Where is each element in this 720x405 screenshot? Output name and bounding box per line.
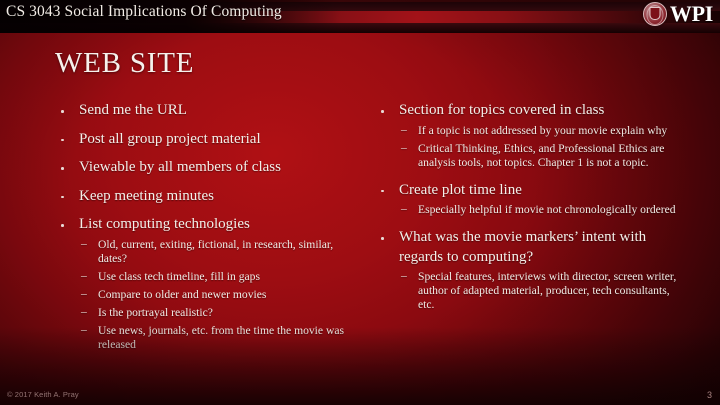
slide-title: WEB SITE: [55, 47, 194, 80]
sub-bullet-item: Critical Thinking, Ethics, and Professio…: [399, 142, 678, 170]
bullet-column-left: Send me the URLPost all group project ma…: [58, 101, 363, 357]
sub-bullet-list: Especially helpful if movie not chronolo…: [399, 203, 678, 217]
sub-bullet-list: If a topic is not addressed by your movi…: [399, 124, 678, 170]
sub-bullet-list: Special features, interviews with direct…: [399, 270, 678, 312]
bullet-item: Create plot time lineEspecially helpful …: [378, 181, 678, 218]
sub-bullet-item: Is the portrayal realistic?: [79, 306, 363, 320]
copyright-notice: © 2017 Keith A. Pray: [7, 390, 79, 399]
sub-bullet-list: Old, current, exiting, fictional, in res…: [79, 238, 363, 352]
slide-body: Send me the URLPost all group project ma…: [0, 101, 720, 371]
bullet-text: Viewable by all members of class: [79, 158, 363, 178]
wpi-wordmark: WPI: [670, 3, 713, 25]
sub-bullet-item: Use news, journals, etc. from the time t…: [79, 324, 363, 352]
bullet-list-right: Section for topics covered in classIf a …: [378, 101, 678, 312]
course-title: CS 3043 Social Implications Of Computing: [6, 3, 282, 21]
bullet-item: List computing technologiesOld, current,…: [58, 215, 363, 352]
sub-bullet-item: Use class tech timeline, fill in gaps: [79, 270, 363, 284]
presentation-slide: CS 3043 Social Implications Of Computing…: [0, 0, 720, 405]
slide-number: 3: [707, 390, 712, 400]
wpi-logo: WPI: [643, 2, 713, 26]
sub-bullet-item: Compare to older and newer movies: [79, 288, 363, 302]
bullet-text: Create plot time line: [399, 181, 678, 201]
slide-header-band: CS 3043 Social Implications Of Computing…: [0, 0, 720, 33]
bullet-text: Keep meeting minutes: [79, 187, 363, 207]
bullet-item: Keep meeting minutes: [58, 187, 363, 207]
bullet-text: List computing technologies: [79, 215, 363, 235]
bullet-list-left: Send me the URLPost all group project ma…: [58, 101, 363, 352]
bullet-text: What was the movie markers’ intent with …: [399, 228, 678, 267]
wpi-seal-icon: [643, 2, 667, 26]
sub-bullet-item: Old, current, exiting, fictional, in res…: [79, 238, 363, 266]
bullet-text: Post all group project material: [79, 130, 363, 150]
sub-bullet-item: Special features, interviews with direct…: [399, 270, 678, 312]
sub-bullet-item: Especially helpful if movie not chronolo…: [399, 203, 678, 217]
bullet-text: Send me the URL: [79, 101, 363, 121]
bullet-item: What was the movie markers’ intent with …: [378, 228, 678, 312]
bullet-item: Post all group project material: [58, 130, 363, 150]
bullet-column-right: Section for topics covered in classIf a …: [378, 101, 678, 323]
bullet-item: Section for topics covered in classIf a …: [378, 101, 678, 170]
sub-bullet-item: If a topic is not addressed by your movi…: [399, 124, 678, 138]
bullet-item: Send me the URL: [58, 101, 363, 121]
bullet-item: Viewable by all members of class: [58, 158, 363, 178]
bullet-text: Section for topics covered in class: [399, 101, 678, 121]
